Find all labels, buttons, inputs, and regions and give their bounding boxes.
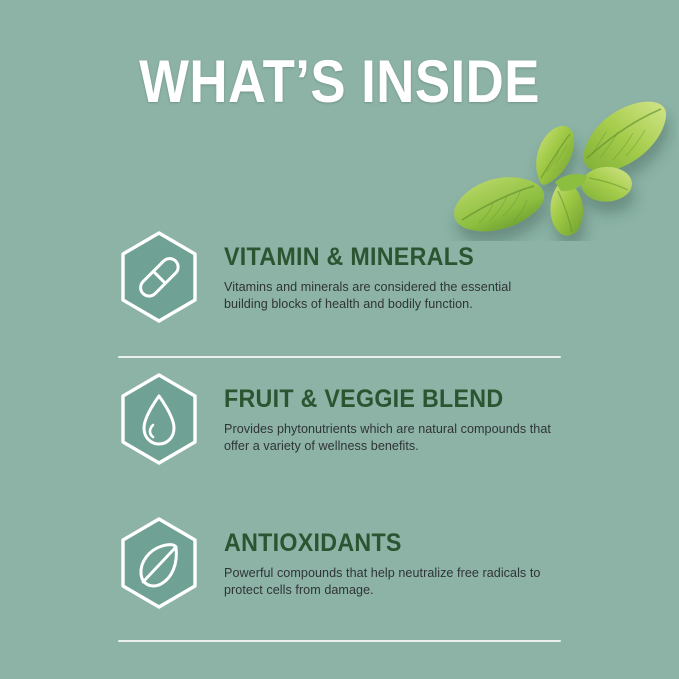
- section-divider: [118, 640, 561, 642]
- water-droplet-icon: [118, 372, 200, 466]
- feature-description: Vitamins and minerals are considered the…: [224, 279, 554, 312]
- feature-list: VITAMIN & MINERALS Vitamins and minerals…: [0, 228, 679, 634]
- feature-description: Provides phytonutrients which are natura…: [224, 421, 554, 454]
- feature-title: FRUIT & VEGGIE BLEND: [224, 386, 647, 413]
- feature-item-fruit-veggie-blend: FRUIT & VEGGIE BLEND Provides phytonutri…: [0, 370, 679, 490]
- leaf-icon: [118, 516, 200, 610]
- feature-text-block: ANTIOXIDANTS Powerful compounds that hel…: [200, 514, 679, 598]
- whats-inside-infographic: WHAT’S INSIDE: [0, 0, 679, 679]
- feature-title: ANTIOXIDANTS: [224, 530, 647, 557]
- page-title: WHAT’S INSIDE: [41, 50, 639, 114]
- feature-item-antioxidants: ANTIOXIDANTS Powerful compounds that hel…: [0, 514, 679, 634]
- feature-item-vitamin-minerals: VITAMIN & MINERALS Vitamins and minerals…: [0, 228, 679, 348]
- pill-capsule-icon: [118, 230, 200, 324]
- section-divider: [118, 356, 561, 358]
- feature-description: Powerful compounds that help neutralize …: [224, 565, 554, 598]
- feature-text-block: FRUIT & VEGGIE BLEND Provides phytonutri…: [200, 370, 679, 454]
- feature-text-block: VITAMIN & MINERALS Vitamins and minerals…: [200, 228, 679, 312]
- feature-title: VITAMIN & MINERALS: [224, 244, 647, 271]
